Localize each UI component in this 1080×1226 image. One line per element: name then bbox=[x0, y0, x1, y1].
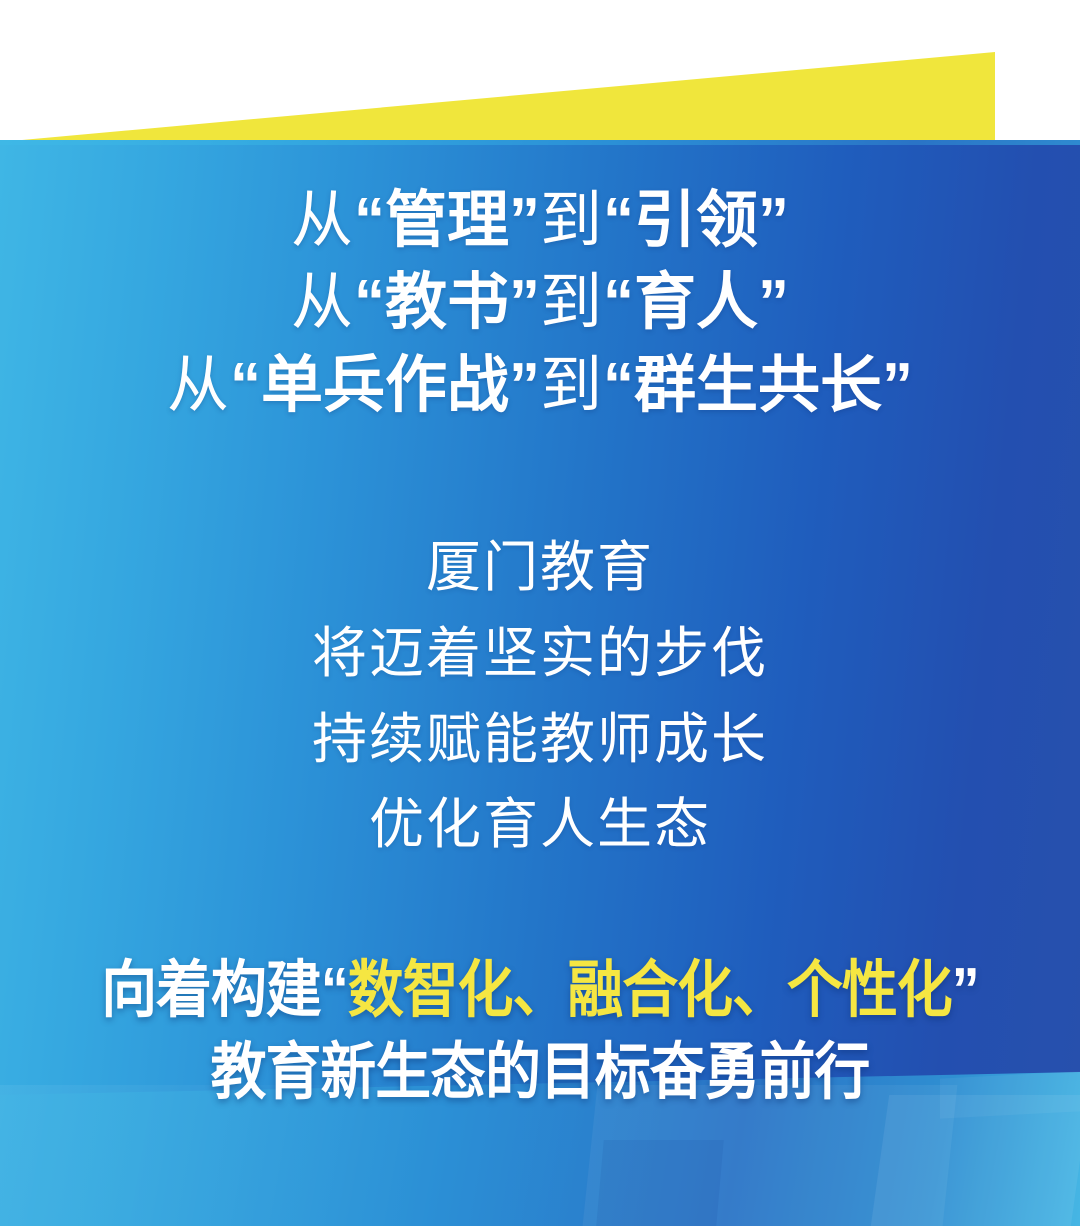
headline-3-from: 从 bbox=[167, 351, 230, 420]
headline-1-to: 到 bbox=[540, 186, 603, 255]
headline-group: 从“管理”到“引领” 从“教书”到“育人” 从“单兵作战”到“群生共长” bbox=[0, 180, 1080, 427]
headline-3-term-a: 单兵作战 bbox=[261, 351, 509, 420]
headline-3-term-b: 群生共长 bbox=[634, 351, 882, 420]
headline-2-to: 到 bbox=[540, 268, 603, 337]
slogan-open-quote: “ bbox=[321, 956, 348, 1025]
headline-3-open-quote: “ bbox=[230, 351, 261, 420]
slogan-group: 向着构建“数智化、融合化、个性化” 教育新生态的目标奋勇前行 bbox=[0, 950, 1080, 1114]
headline-3-close-quote: ” bbox=[509, 351, 540, 420]
headline-2-open-quote: “ bbox=[354, 268, 385, 337]
headline-3-to: 到 bbox=[540, 351, 603, 420]
slogan-accent-text: 数智化、融合化、个性化 bbox=[348, 956, 952, 1025]
headline-2-open-quote-2: “ bbox=[603, 268, 634, 337]
slogan-prefix: 向着构建 bbox=[101, 956, 321, 1025]
headline-1-term-a: 管理 bbox=[385, 186, 509, 255]
yellow-wedge-shape bbox=[0, 0, 1080, 150]
body-line-1: 厦门教育 bbox=[0, 525, 1080, 611]
headline-1-close-quote: ” bbox=[509, 186, 540, 255]
headline-3-close-quote-2: ” bbox=[882, 351, 913, 420]
body-line-3: 持续赋能教师成长 bbox=[0, 697, 1080, 783]
headline-1-from: 从 bbox=[291, 186, 354, 255]
headline-3-open-quote-2: “ bbox=[603, 351, 634, 420]
headline-2-term-a: 教书 bbox=[385, 268, 509, 337]
headline-line-1: 从“管理”到“引领” bbox=[0, 180, 1080, 262]
body-line-2: 将迈着坚实的步伐 bbox=[0, 611, 1080, 697]
headline-1-open-quote: “ bbox=[354, 186, 385, 255]
slogan-close-quote: ” bbox=[952, 956, 979, 1025]
headline-2-term-b: 育人 bbox=[634, 268, 758, 337]
headline-1-open-quote-2: “ bbox=[603, 186, 634, 255]
body-line-4: 优化育人生态 bbox=[0, 782, 1080, 868]
body-text-group: 厦门教育 将迈着坚实的步伐 持续赋能教师成长 优化育人生态 bbox=[0, 525, 1080, 868]
headline-2-from: 从 bbox=[291, 268, 354, 337]
headline-2-close-quote: ” bbox=[509, 268, 540, 337]
poster-content: 从“管理”到“引领” 从“教书”到“育人” 从“单兵作战”到“群生共长” 厦门教… bbox=[0, 145, 1080, 1226]
slogan-line-1: 向着构建“数智化、融合化、个性化” bbox=[54, 950, 1026, 1032]
poster-canvas: 从“管理”到“引领” 从“教书”到“育人” 从“单兵作战”到“群生共长” 厦门教… bbox=[0, 0, 1080, 1226]
headline-1-close-quote-2: ” bbox=[758, 186, 789, 255]
slogan-line-2: 教育新生态的目标奋勇前行 bbox=[54, 1032, 1026, 1114]
headline-1-term-b: 引领 bbox=[634, 186, 758, 255]
headline-line-2: 从“教书”到“育人” bbox=[0, 262, 1080, 344]
headline-line-3: 从“单兵作战”到“群生共长” bbox=[0, 345, 1080, 427]
headline-2-close-quote-2: ” bbox=[758, 268, 789, 337]
